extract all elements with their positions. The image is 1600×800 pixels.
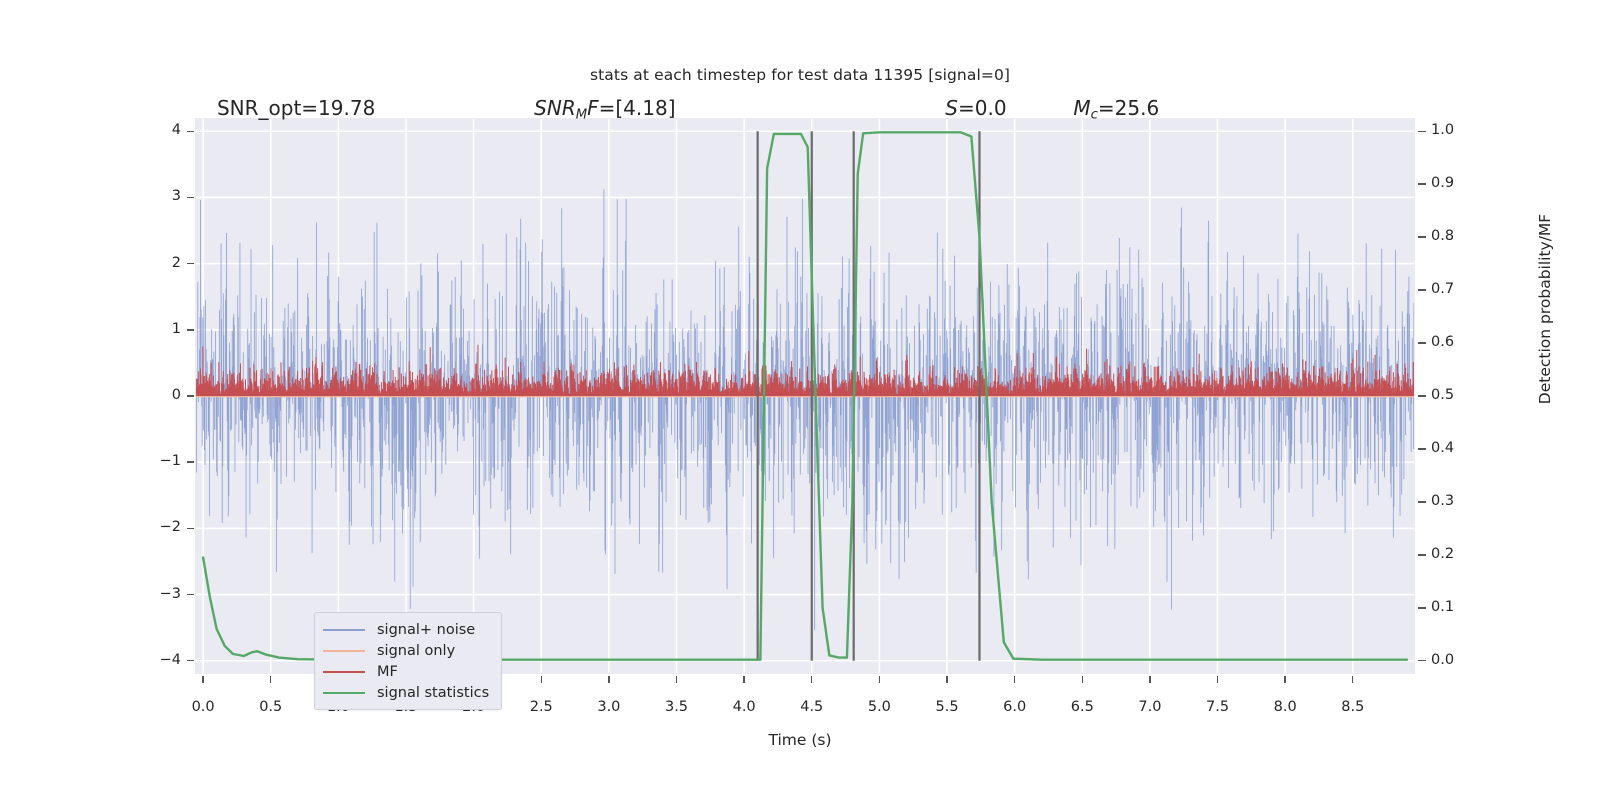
y-right-tick-label: 0.2	[1431, 546, 1454, 562]
x-tick-mark	[811, 676, 812, 683]
legend-label: signal+ noise	[377, 622, 475, 638]
chart-title: stats at each timestep for test data 113…	[0, 66, 1600, 84]
legend-label: MF	[377, 664, 398, 680]
y-right-tick-mark	[1418, 183, 1426, 184]
legend-swatch-line	[323, 671, 365, 673]
legend-label: signal only	[377, 643, 455, 659]
y-left-tick-mark	[187, 395, 194, 396]
y-right-tick-label: 0.6	[1431, 334, 1454, 350]
x-tick-label: 4.0	[733, 699, 756, 715]
x-tick-mark	[1284, 676, 1285, 683]
y-axis-right-label: Detection probability/MF	[1536, 169, 1554, 449]
axes-background	[195, 118, 1415, 674]
y-left-tick-label: 4	[61, 122, 181, 138]
y-right-tick-mark	[1418, 289, 1426, 290]
y-right-tick-label: 0.8	[1431, 228, 1454, 244]
y-right-tick-mark	[1418, 395, 1426, 396]
y-right-tick-mark	[1418, 342, 1426, 343]
y-right-tick-mark	[1418, 236, 1426, 237]
x-tick-mark	[608, 676, 609, 683]
annotation-snr-mf: SNRMF=[4.18]	[534, 96, 675, 123]
x-tick-label: 6.0	[1003, 699, 1026, 715]
y-right-tick-label: 0.0	[1431, 652, 1454, 668]
y-right-tick-label: 0.4	[1431, 440, 1454, 456]
y-right-tick-label: 0.9	[1431, 175, 1454, 191]
y-right-tick-label: 0.5	[1431, 387, 1454, 403]
plot-area	[195, 118, 1415, 674]
x-tick-mark	[1149, 676, 1150, 683]
x-tick-label: 6.5	[1071, 699, 1094, 715]
x-tick-label: 2.5	[530, 699, 553, 715]
y-left-tick-label: 2	[61, 255, 181, 271]
x-tick-mark	[541, 676, 542, 683]
x-tick-label: 8.5	[1341, 699, 1364, 715]
x-tick-mark	[270, 676, 271, 683]
y-left-tick-mark	[187, 263, 194, 264]
annotation-snr-opt: SNR_opt=19.78	[217, 96, 375, 120]
y-axis-left-label: Whitened strain	[0, 189, 1, 429]
legend-item[interactable]: signal+ noise	[323, 619, 489, 640]
x-tick-label: 7.0	[1138, 699, 1161, 715]
x-tick-label: 0.0	[192, 699, 215, 715]
y-left-tick-mark	[187, 660, 194, 661]
x-tick-mark	[1082, 676, 1083, 683]
y-left-tick-mark	[187, 528, 194, 529]
x-tick-mark	[676, 676, 677, 683]
x-tick-label: 7.5	[1206, 699, 1229, 715]
x-tick-label: 0.5	[259, 699, 282, 715]
y-right-tick-mark	[1418, 501, 1426, 502]
legend-item[interactable]: signal statistics	[323, 682, 489, 703]
y-left-tick-mark	[187, 131, 194, 132]
legend-swatch-line	[323, 692, 365, 694]
plot-svg	[195, 118, 1415, 674]
y-left-tick-mark	[187, 461, 194, 462]
legend-label: signal statistics	[377, 685, 489, 701]
x-tick-mark	[1217, 676, 1218, 683]
annotation-mchirp: Mc=25.6	[1073, 96, 1159, 123]
y-right-tick-mark	[1418, 554, 1426, 555]
x-tick-label: 5.5	[935, 699, 958, 715]
x-tick-label: 8.0	[1274, 699, 1297, 715]
annotation-s-stat: S=0.0	[945, 96, 1006, 120]
x-tick-label: 3.0	[597, 699, 620, 715]
x-tick-mark	[879, 676, 880, 683]
x-axis-label: Time (s)	[0, 731, 1600, 749]
y-left-tick-mark	[187, 329, 194, 330]
legend-swatch-line	[323, 629, 365, 631]
y-right-tick-mark	[1418, 131, 1426, 132]
y-right-tick-mark	[1418, 607, 1426, 608]
figure-canvas: stats at each timestep for test data 113…	[0, 0, 1600, 800]
y-left-tick-label: 0	[61, 387, 181, 403]
y-left-tick-label: 1	[61, 321, 181, 337]
x-tick-mark	[1352, 676, 1353, 683]
x-tick-mark	[202, 676, 203, 683]
chart-legend[interactable]: signal+ noisesignal onlyMFsignal statist…	[314, 612, 502, 710]
legend-item[interactable]: MF	[323, 661, 489, 682]
legend-item[interactable]: signal only	[323, 640, 489, 661]
x-tick-label: 5.0	[868, 699, 891, 715]
x-tick-label: 3.5	[665, 699, 688, 715]
y-right-tick-label: 0.3	[1431, 493, 1454, 509]
y-left-tick-label: −4	[61, 652, 181, 668]
y-right-tick-label: 0.7	[1431, 281, 1454, 297]
y-right-tick-mark	[1418, 660, 1426, 661]
y-left-tick-label: −2	[61, 519, 181, 535]
x-tick-mark	[946, 676, 947, 683]
y-left-tick-label: 3	[61, 188, 181, 204]
y-right-tick-label: 0.1	[1431, 599, 1454, 615]
legend-swatch-line	[323, 650, 365, 652]
y-right-tick-label: 1.0	[1431, 122, 1454, 138]
x-tick-mark	[743, 676, 744, 683]
y-left-tick-label: −1	[61, 453, 181, 469]
series-signal-plus-noise	[195, 189, 1415, 629]
x-tick-mark	[1014, 676, 1015, 683]
x-tick-label: 4.5	[800, 699, 823, 715]
y-right-tick-mark	[1418, 448, 1426, 449]
y-left-tick-mark	[187, 594, 194, 595]
y-left-tick-label: −3	[61, 586, 181, 602]
y-left-tick-mark	[187, 197, 194, 198]
